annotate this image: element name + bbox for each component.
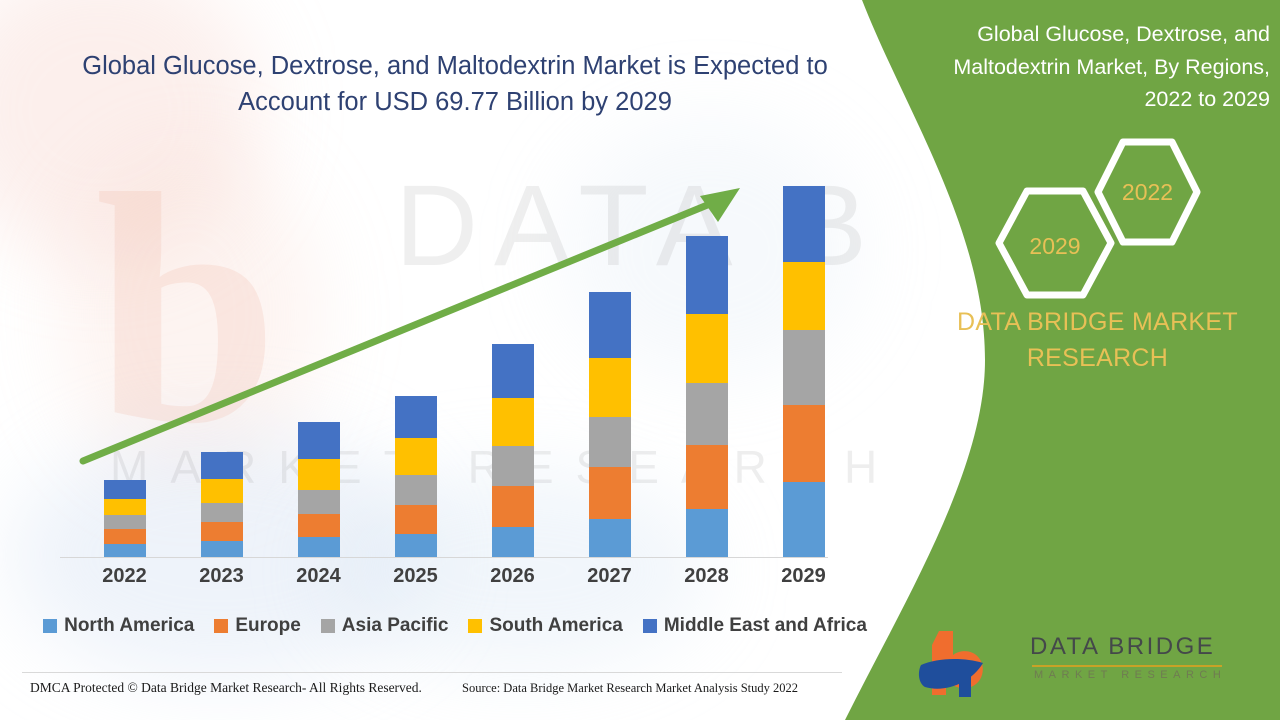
bar-segment: [492, 527, 534, 557]
bar-segment: [395, 396, 437, 438]
footer-divider: [22, 672, 842, 673]
bar-group-2026: [464, 344, 561, 557]
bar-segment: [589, 519, 631, 557]
bar-group-2023: [173, 452, 270, 557]
bar-segment: [298, 490, 340, 514]
logo-subtitle: MARKET RESEARCH: [1034, 669, 1226, 681]
stacked-bars: [60, 150, 828, 557]
legend-swatch-icon: [468, 619, 482, 633]
bar-segment: [104, 499, 146, 515]
x-axis-line: [60, 557, 828, 558]
bar-group-2025: [367, 396, 464, 557]
stacked-bar: [104, 480, 146, 557]
x-axis-label-2028: 2028: [658, 565, 755, 588]
bar-segment: [492, 344, 534, 398]
bar-segment: [104, 480, 146, 499]
x-axis-labels: 20222023202420252026202720282029: [60, 565, 828, 599]
bar-segment: [783, 482, 825, 557]
bar-segment: [395, 534, 437, 557]
hexagon-badges: 2029 2022: [905, 135, 1280, 285]
bar-segment: [783, 330, 825, 405]
bar-segment: [395, 475, 437, 505]
bar-segment: [201, 503, 243, 522]
bar-segment: [589, 467, 631, 519]
bar-segment: [686, 509, 728, 557]
bar-segment: [589, 292, 631, 358]
bar-segment: [686, 445, 728, 509]
data-bridge-logo: DATA BRIDGE MARKET RESEARCH: [915, 625, 1275, 705]
x-axis-label-2027: 2027: [561, 565, 658, 588]
bar-group-2027: [561, 292, 658, 557]
legend-swatch-icon: [43, 619, 57, 633]
brand-name: DATA BRIDGE MARKET RESEARCH: [925, 305, 1270, 376]
bar-segment: [395, 505, 437, 534]
legend-swatch-icon: [321, 619, 335, 633]
x-axis-label-2024: 2024: [270, 565, 367, 588]
bar-segment: [492, 446, 534, 486]
panel-title: Global Glucose, Dextrose, and Maltodextr…: [925, 18, 1270, 116]
bar-group-2029: [755, 186, 852, 557]
bar-group-2024: [270, 422, 367, 557]
hexagon-2022-label: 2022: [1090, 179, 1205, 206]
bar-segment: [492, 486, 534, 527]
stacked-bar: [298, 422, 340, 557]
bar-segment: [104, 515, 146, 529]
stacked-bar: [201, 452, 243, 557]
x-axis-label-2023: 2023: [173, 565, 270, 588]
legend-label: Middle East and Africa: [664, 615, 867, 637]
x-axis-label-2029: 2029: [755, 565, 852, 588]
legend-swatch-icon: [214, 619, 228, 633]
chart-legend: North AmericaEuropeAsia PacificSouth Ame…: [60, 615, 850, 637]
panel-content: Global Glucose, Dextrose, and Maltodextr…: [905, 0, 1280, 720]
bar-group-2028: [658, 236, 755, 557]
x-axis-label-2026: 2026: [464, 565, 561, 588]
legend-label: Asia Pacific: [342, 615, 449, 637]
legend-swatch-icon: [643, 619, 657, 633]
bar-segment: [686, 236, 728, 314]
logo-divider: [1032, 665, 1222, 667]
bar-segment: [783, 186, 825, 262]
bar-segment: [783, 262, 825, 330]
bar-segment: [492, 398, 534, 446]
bar-segment: [783, 405, 825, 482]
bar-segment: [298, 537, 340, 557]
chart-title: Global Glucose, Dextrose, and Maltodextr…: [60, 48, 850, 120]
legend-item[interactable]: Europe: [214, 615, 300, 637]
stacked-bar: [395, 396, 437, 557]
bar-segment: [686, 314, 728, 383]
bar-group-2022: [76, 480, 173, 557]
legend-item[interactable]: Middle East and Africa: [643, 615, 867, 637]
logo-title: DATA BRIDGE: [1030, 633, 1215, 661]
bar-segment: [201, 541, 243, 557]
bar-segment: [298, 459, 340, 490]
bar-segment: [104, 544, 146, 557]
bar-segment: [201, 452, 243, 479]
bar-segment: [201, 522, 243, 541]
footer-dmca-notice: DMCA Protected © Data Bridge Market Rese…: [30, 680, 422, 696]
bar-segment: [298, 422, 340, 459]
stacked-bar: [783, 186, 825, 557]
legend-item[interactable]: Asia Pacific: [321, 615, 449, 637]
footer-source-note: Source: Data Bridge Market Research Mark…: [462, 681, 798, 696]
stacked-bar: [492, 344, 534, 557]
x-axis-label-2022: 2022: [76, 565, 173, 588]
bar-segment: [686, 383, 728, 445]
legend-label: Europe: [235, 615, 300, 637]
logo-mark-icon: [915, 625, 1025, 703]
stacked-bar: [589, 292, 631, 557]
x-axis-label-2025: 2025: [367, 565, 464, 588]
bar-segment: [201, 479, 243, 503]
stacked-bar: [686, 236, 728, 557]
legend-label: South America: [489, 615, 622, 637]
chart-plot-area: [60, 150, 828, 558]
legend-item[interactable]: South America: [468, 615, 622, 637]
bar-segment: [589, 417, 631, 467]
bar-segment: [589, 358, 631, 417]
infographic-canvas: b DATA BRIDGE MARKET RESEARCH Global Glu…: [0, 0, 1280, 720]
bar-segment: [395, 438, 437, 475]
legend-label: North America: [64, 615, 194, 637]
bar-segment: [104, 529, 146, 544]
bar-segment: [298, 514, 340, 537]
legend-item[interactable]: North America: [43, 615, 194, 637]
